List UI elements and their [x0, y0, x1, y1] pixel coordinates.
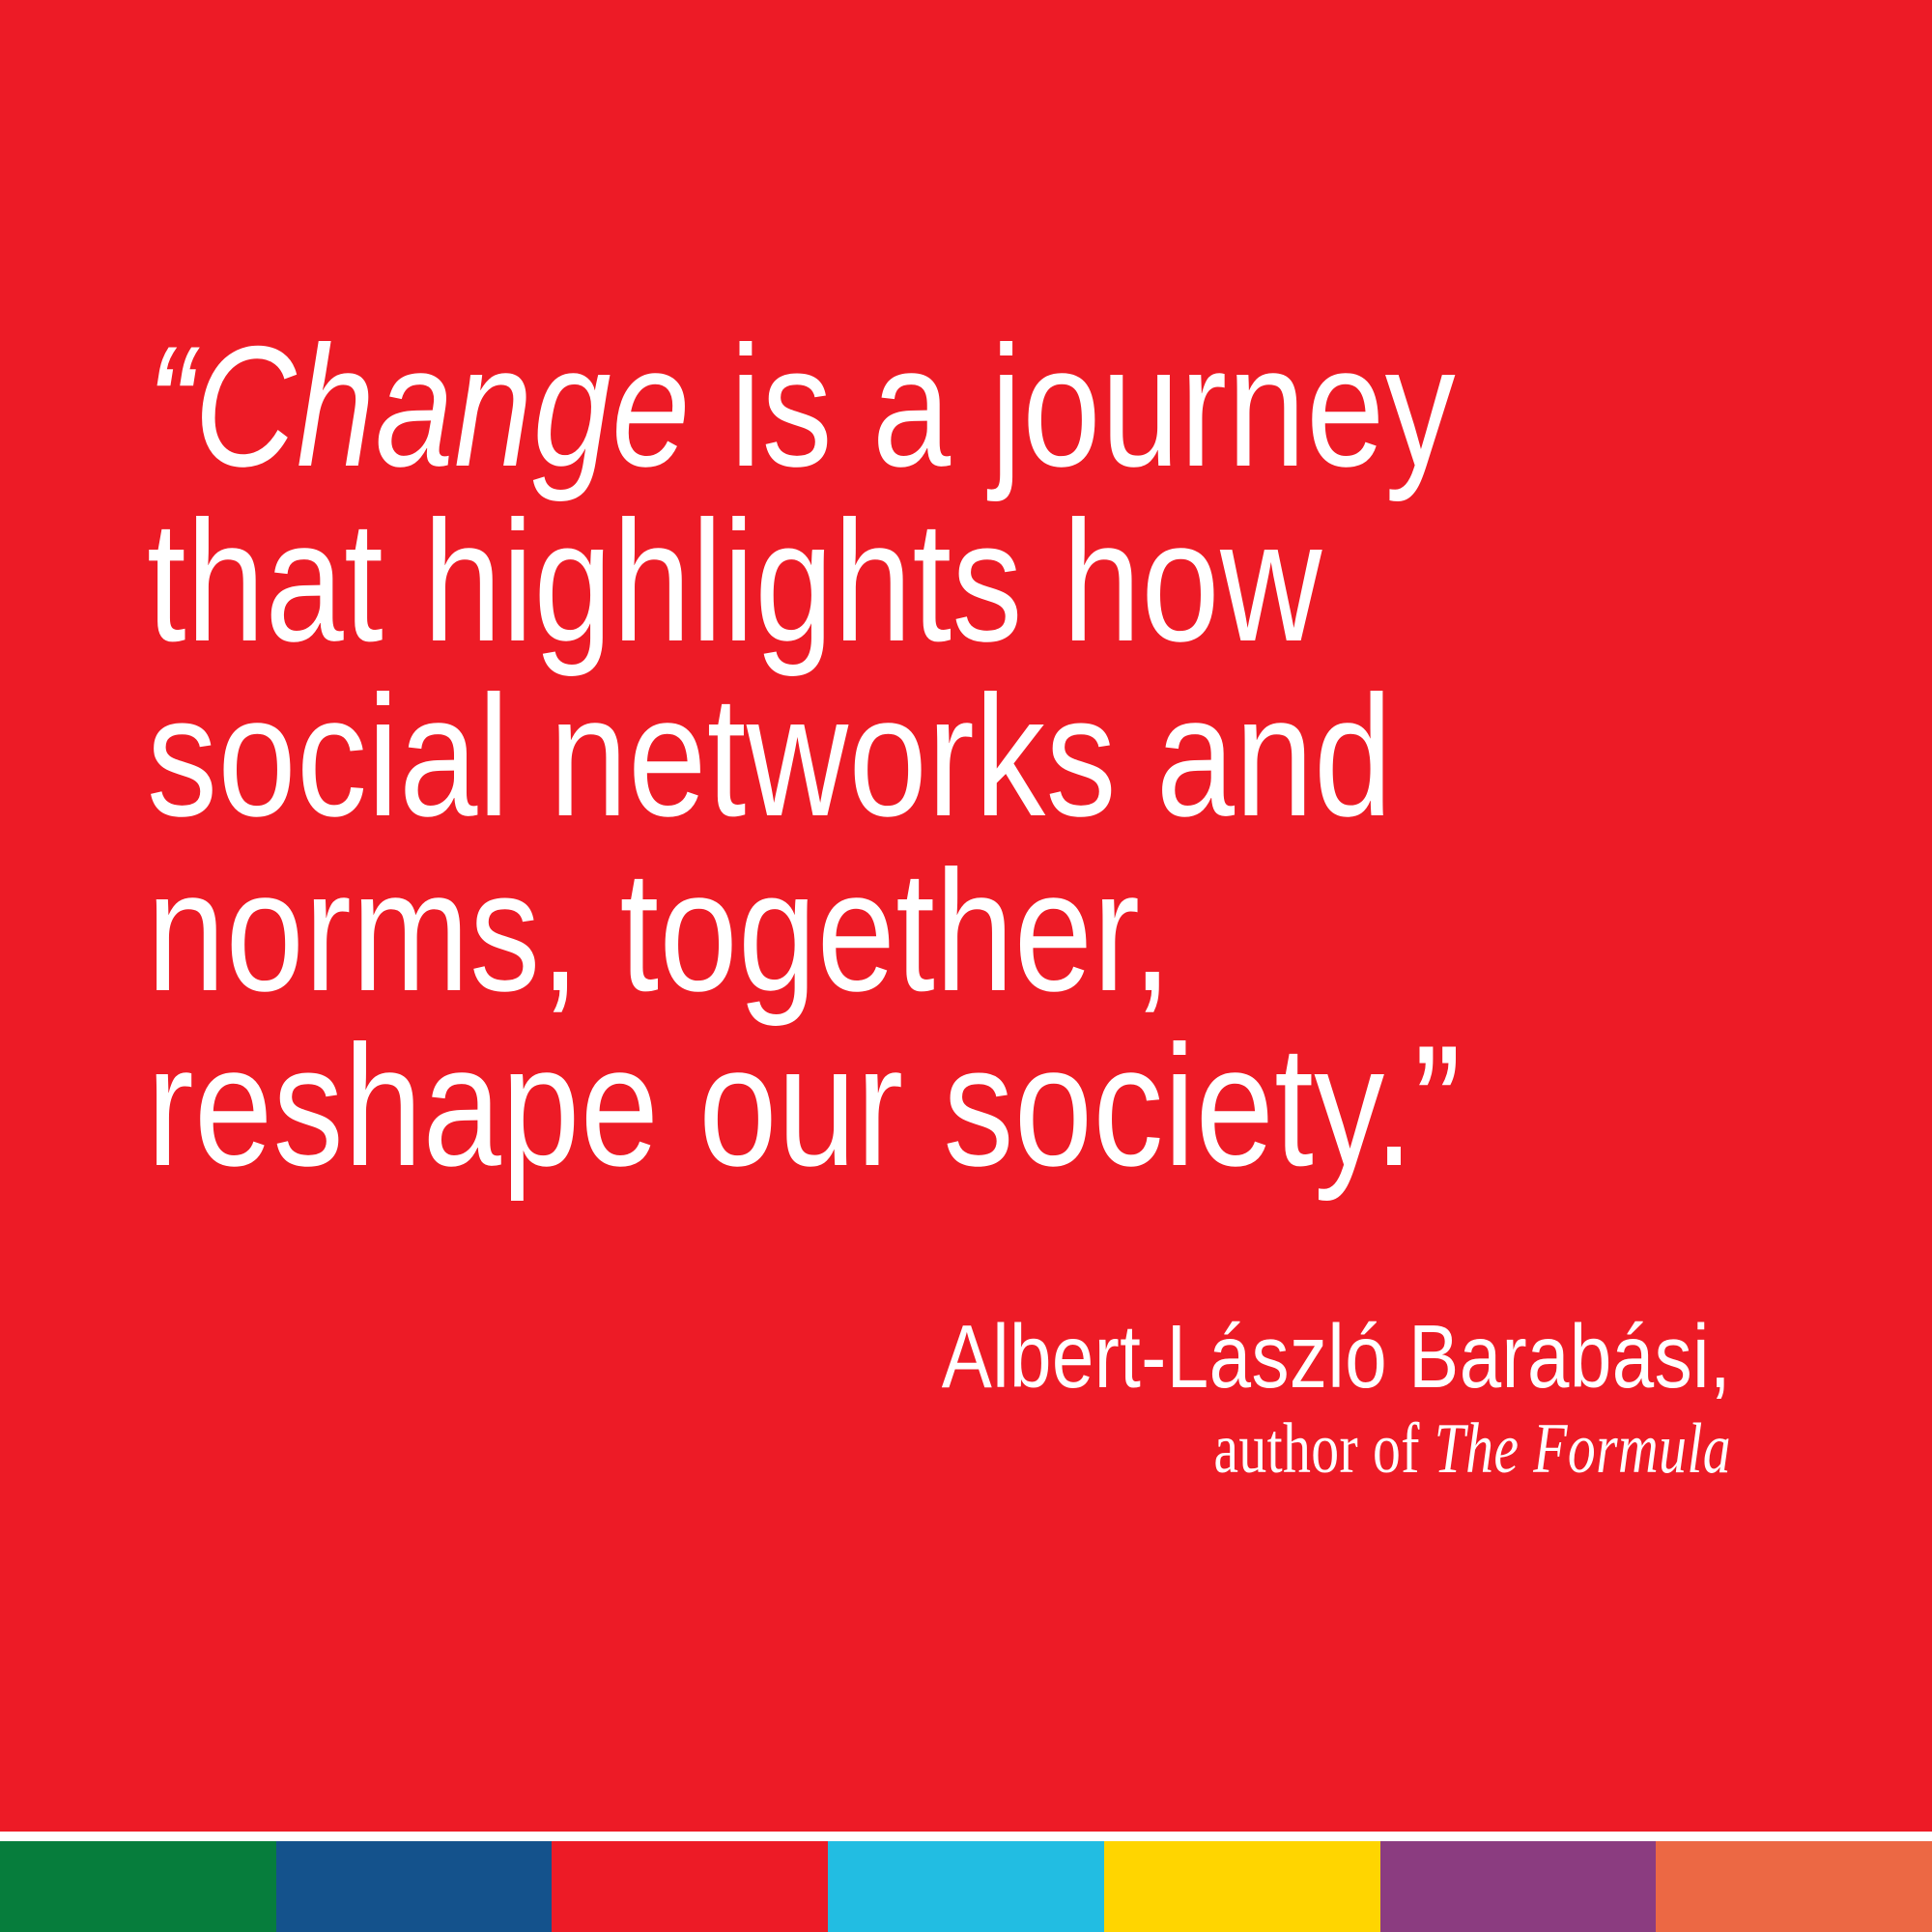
quote-line-1: “Change is a journey: [147, 319, 1350, 494]
closing-quote-mark: ”: [1414, 1009, 1462, 1202]
color-swatch-yellow: [1104, 1841, 1380, 1932]
color-swatch-red: [552, 1841, 828, 1932]
color-swatch-green: [0, 1841, 276, 1932]
quote-line-3: social networks and: [147, 668, 1350, 843]
attribution-block: Albert-László Barabási, author of The Fo…: [0, 1306, 1731, 1490]
quote-line-5: reshape our society.”: [147, 1018, 1350, 1193]
color-swatch-purple: [1380, 1841, 1657, 1932]
white-divider: [0, 1832, 1932, 1841]
quote-card: “Change is a journey that highlights how…: [0, 0, 1932, 1932]
opening-quote-mark: “: [147, 310, 194, 502]
book-title: The Formula: [1435, 1409, 1731, 1489]
quote-line-2: that highlights how: [147, 494, 1350, 668]
author-role: author of The Formula: [381, 1408, 1731, 1490]
quote-line-4: norms, together,: [147, 843, 1350, 1018]
author-role-prefix: author of: [1213, 1409, 1434, 1489]
quote-line-1-rest: is a journey: [691, 310, 1456, 502]
color-swatch-orange: [1656, 1841, 1932, 1932]
pull-quote: “Change is a journey that highlights how…: [147, 319, 1615, 1193]
color-swatch-bar: [0, 1841, 1932, 1932]
quote-line-5-text: reshape our society.: [147, 1009, 1414, 1202]
color-swatch-cyan: [828, 1841, 1104, 1932]
color-swatch-blue: [276, 1841, 553, 1932]
quote-emphasis-word: Change: [194, 310, 691, 502]
author-name: Albert-László Barabási,: [277, 1306, 1731, 1406]
